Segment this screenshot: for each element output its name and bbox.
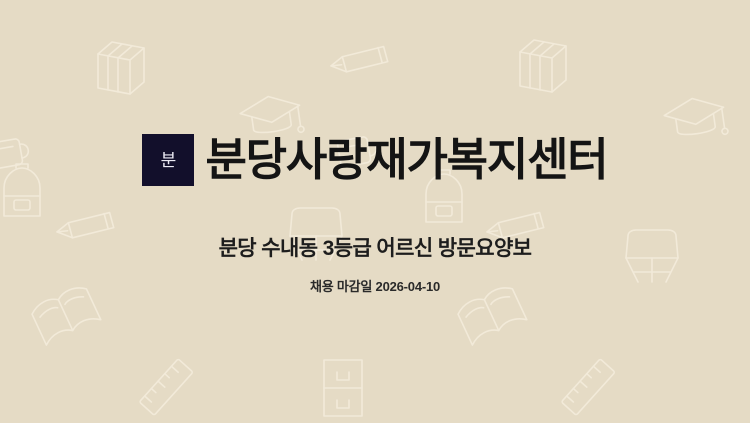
job-posting-card: 분 분당사랑재가복지센터 분당 수내동 3등급 어르신 방문요양보 채용 마감일… — [0, 0, 750, 423]
organization-badge-initial: 분 — [161, 152, 177, 169]
organization-logo-badge: 분 — [142, 134, 194, 186]
job-posting-subtitle: 분당 수내동 3등급 어르신 방문요양보 — [219, 232, 532, 262]
organization-title-row: 분 분당사랑재가복지센터 — [142, 134, 607, 186]
application-deadline: 채용 마감일 2026-04-10 — [310, 276, 440, 295]
organization-name: 분당사랑재가복지센터 — [205, 136, 607, 185]
card-content: 분 분당사랑재가복지센터 분당 수내동 3등급 어르신 방문요양보 채용 마감일… — [0, 0, 750, 423]
